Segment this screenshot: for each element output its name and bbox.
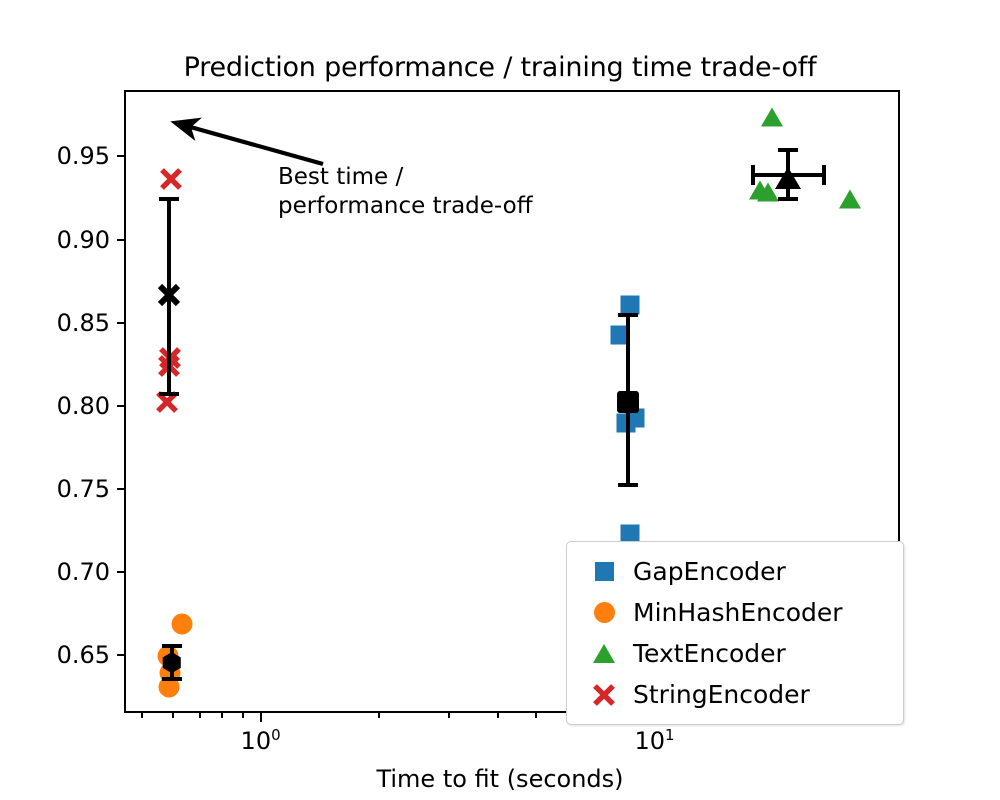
x-tick-mark-minor xyxy=(448,713,450,718)
data-point-textencoder[interactable] xyxy=(761,107,783,126)
legend-label: StringEncoder xyxy=(633,680,810,709)
error-bar-cap xyxy=(778,148,798,152)
error-bar-cap xyxy=(159,392,179,396)
mean-marker-textencoder[interactable] xyxy=(775,167,801,189)
annotation-line-2: performance trade-off xyxy=(278,192,533,221)
x-icon xyxy=(575,682,633,708)
x-tick-mark-minor xyxy=(378,713,380,718)
legend-label: MinHashEncoder xyxy=(633,598,843,627)
x-tick-mark-minor xyxy=(141,713,143,718)
y-tick-label: 0.85 xyxy=(24,309,110,337)
y-tick-mark xyxy=(117,488,124,490)
y-tick-mark xyxy=(117,155,124,157)
page-title: Prediction performance / training time t… xyxy=(0,52,1000,83)
legend-label: GapEncoder xyxy=(633,557,786,586)
y-tick-label: 0.65 xyxy=(24,641,110,669)
legend-label: TextEncoder xyxy=(633,639,786,668)
figure-canvas: Prediction performance / training time t… xyxy=(0,0,1000,800)
mean-marker-gapencoder[interactable] xyxy=(617,391,639,413)
y-tick-mark xyxy=(117,322,124,324)
y-tick-mark xyxy=(117,405,124,407)
error-bar-cap xyxy=(162,644,182,648)
error-bar-cap xyxy=(159,197,179,201)
legend-item-textencoder[interactable]: TextEncoder xyxy=(575,633,893,674)
y-tick-mark xyxy=(117,654,124,656)
y-tick-label: 0.90 xyxy=(24,226,110,254)
legend-item-minhashencoder[interactable]: MinHashEncoder xyxy=(575,592,893,633)
circle-icon xyxy=(575,602,633,623)
error-bar-cap xyxy=(751,165,755,185)
data-point-textencoder[interactable] xyxy=(839,189,861,208)
triangle-icon xyxy=(575,644,633,663)
error-bar-cap xyxy=(778,197,798,201)
annotation-text: Best time / performance trade-off xyxy=(278,163,533,220)
error-bar-cap xyxy=(822,165,826,185)
x-axis-label: Time to fit (seconds) xyxy=(0,765,1000,793)
x-tick-label: 101 xyxy=(634,726,674,755)
data-point-minhashencoder[interactable] xyxy=(172,614,193,635)
data-point-gapencoder[interactable] xyxy=(620,295,639,314)
legend[interactable]: GapEncoderMinHashEncoderTextEncoderStrin… xyxy=(566,541,904,725)
x-tick-mark-minor xyxy=(497,713,499,718)
mean-marker-stringencoder[interactable] xyxy=(155,281,183,313)
error-bar-cap xyxy=(618,483,638,487)
square-icon xyxy=(575,562,633,581)
x-tick-mark-minor xyxy=(535,713,537,718)
y-tick-label: 0.70 xyxy=(24,558,110,586)
y-tick-mark xyxy=(117,571,124,573)
y-tick-label: 0.75 xyxy=(24,475,110,503)
legend-item-gapencoder[interactable]: GapEncoder xyxy=(575,551,893,592)
x-tick-mark-minor xyxy=(221,713,223,718)
legend-item-stringencoder[interactable]: StringEncoder xyxy=(575,674,893,715)
error-bar-cap xyxy=(162,677,182,681)
y-tick-label: 0.95 xyxy=(24,142,110,170)
x-tick-mark-minor xyxy=(242,713,244,718)
annotation-line-1: Best time / xyxy=(278,163,533,192)
y-tick-mark xyxy=(117,239,124,241)
x-tick-mark-major xyxy=(260,713,262,722)
x-tick-mark-minor xyxy=(172,713,174,718)
y-tick-label: 0.80 xyxy=(24,392,110,420)
x-tick-label: 100 xyxy=(241,726,281,755)
x-tick-mark-minor xyxy=(199,713,201,718)
error-bar-cap xyxy=(618,313,638,317)
